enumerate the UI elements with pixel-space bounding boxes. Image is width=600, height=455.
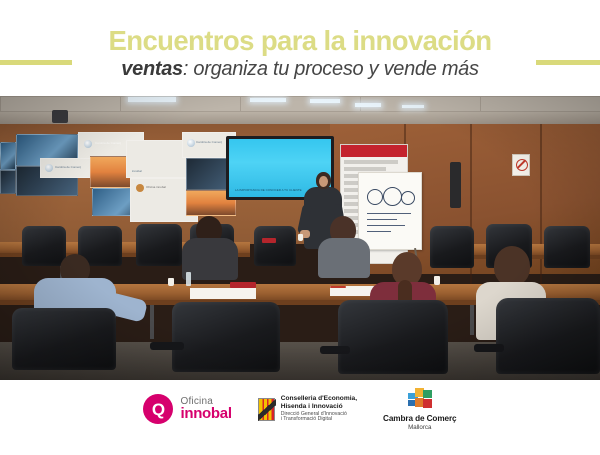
exhibit-panel <box>0 170 16 194</box>
poster-header: Encuentros para la innovación ventas: or… <box>0 0 600 96</box>
conselleria-line4: i Transformació Digital <box>281 417 357 423</box>
cambra-line1: Cambra de Comerç <box>383 414 456 423</box>
wall-speaker <box>450 162 461 208</box>
chair <box>254 226 296 266</box>
conselleria-line2: Hisenda i Innovació <box>281 403 357 410</box>
chair <box>496 298 600 374</box>
pen <box>330 286 346 288</box>
attendee-head <box>494 246 530 286</box>
flipchart <box>358 172 422 250</box>
ceiling-light <box>128 97 176 102</box>
chair <box>172 302 280 372</box>
subtitle-rest: : organiza tu proceso y vende más <box>183 58 479 80</box>
chair <box>136 224 182 266</box>
conselleria-line1: Conselleria d'Economia, <box>281 395 357 402</box>
chair <box>12 308 116 370</box>
chair <box>430 226 474 268</box>
sponsor-logo-row: Q Oficina innobal Conselleria d'Economia… <box>0 388 600 431</box>
logo-conselleria: Conselleria d'Economia, Hisenda i Innova… <box>258 395 357 423</box>
senyera-shield-icon <box>258 398 275 421</box>
page-title: Encuentros para la innovación <box>0 26 600 56</box>
logo-cambra-de-comerc: Cambra de Comerç Mallorca <box>383 388 456 431</box>
wall-seam <box>540 124 542 292</box>
attendee-torso <box>318 238 370 278</box>
event-photo: Cambra de Comerç Cambra de Comerç innoba… <box>0 96 600 380</box>
innobal-line2: innobal <box>180 406 231 422</box>
cambra-icon <box>406 388 433 412</box>
ceiling-projector <box>52 110 68 123</box>
ceiling-tile <box>480 96 600 112</box>
cup <box>434 276 440 285</box>
exhibit-panel <box>0 142 16 170</box>
innobal-glyph: Q <box>152 401 165 418</box>
no-smoking-sign <box>512 154 530 176</box>
poster-footer: Q Oficina innobal Conselleria d'Economia… <box>0 380 600 455</box>
page-subtitle: ventas: organiza tu proceso y vende más <box>0 57 600 81</box>
cup <box>298 234 303 241</box>
chair <box>22 226 66 266</box>
logo-oficina-innobal: Q Oficina innobal <box>143 394 231 424</box>
water-bottle <box>186 272 191 286</box>
cambra-line2: Mallorca <box>408 424 431 431</box>
ceiling-light <box>310 99 340 103</box>
innobal-icon: Q <box>143 394 173 424</box>
ceiling-light <box>402 105 424 108</box>
presenter-face <box>319 176 328 187</box>
chair <box>544 226 590 268</box>
poster-root: Encuentros para la innovación ventas: or… <box>0 0 600 455</box>
paper-sheet <box>190 288 256 299</box>
subtitle-keyword: ventas <box>121 58 183 80</box>
banner-header-bar <box>341 145 407 157</box>
name-plate <box>230 282 256 288</box>
name-plate <box>262 238 276 243</box>
ceiling-light <box>250 98 286 102</box>
chair <box>338 300 448 374</box>
ceiling-light <box>355 103 381 107</box>
cup <box>168 278 174 286</box>
header-text-block: Encuentros para la innovación ventas: or… <box>0 26 600 81</box>
screen-slide-text: LA IMPORTANCIA DE CONOCER A TU CLIENTE <box>235 188 302 192</box>
